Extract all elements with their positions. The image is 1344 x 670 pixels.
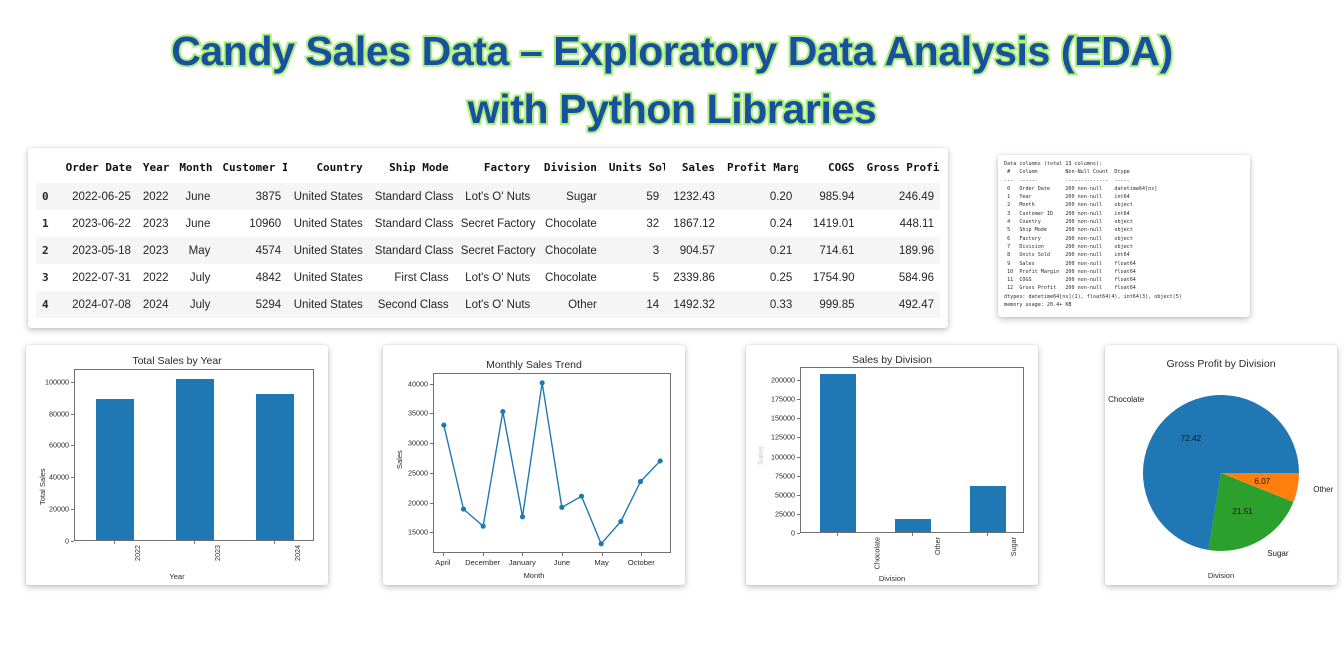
table-column-header: Gross Profit: [861, 154, 941, 183]
x-axis-tick-mark: [274, 541, 275, 544]
table-row-index: 2: [36, 237, 60, 264]
x-axis-tick-label: 2024: [293, 545, 302, 561]
chart-card-sales-by-division: Sales by Division Sales Division 0250005…: [746, 345, 1038, 585]
y-axis-tick-mark: [797, 437, 800, 438]
y-axis-tick-label: 20000: [26, 505, 69, 514]
table-column-header: Sales: [665, 154, 721, 183]
y-axis-tick-mark: [71, 382, 74, 383]
chart-title: Total Sales by Year: [26, 355, 328, 367]
x-axis-tick-label: Other: [933, 537, 942, 555]
x-axis-tick-label: 2023: [213, 545, 222, 561]
y-axis-tick-label: 40000: [383, 379, 428, 388]
table-cell: 584.96: [861, 264, 941, 291]
bar: [820, 374, 856, 532]
y-axis-tick-label: 60000: [26, 441, 69, 450]
y-axis-tick-mark: [430, 473, 433, 474]
chart-x-axis-label: Year: [26, 572, 328, 581]
bar: [96, 399, 134, 540]
page-title-line-2: with Python Libraries: [0, 80, 1344, 138]
table-index-header: [36, 154, 60, 183]
x-axis-tick-mark: [114, 541, 115, 544]
table-cell: 14: [603, 291, 665, 318]
y-axis-tick-label: 25000: [746, 509, 795, 518]
pie-slice-value: 21.51: [1232, 507, 1253, 516]
x-axis-tick-label: 2022: [133, 545, 142, 561]
x-axis-tick-label: April: [435, 558, 450, 567]
table-row: 42024-07-082024July5294United StatesSeco…: [36, 291, 940, 318]
y-axis-tick-label: 30000: [383, 439, 428, 448]
y-axis-tick-label: 150000: [746, 414, 795, 423]
table-cell: 1754.90: [798, 264, 860, 291]
x-axis-tick-mark: [522, 553, 523, 556]
dataframe-preview-card: Order DateYearMonthCustomer IDCountryShi…: [28, 148, 948, 328]
table-cell: 1492.32: [665, 291, 721, 318]
bar: [970, 486, 1006, 532]
line-data-point: [599, 541, 604, 546]
y-axis-tick-label: 15000: [383, 528, 428, 537]
y-axis-tick-mark: [430, 503, 433, 504]
chart-plot-area: [74, 369, 314, 541]
table-cell: 5294: [216, 291, 287, 318]
table-cell: 0.33: [721, 291, 798, 318]
table-column-header: Profit Margin: [721, 154, 798, 183]
table-column-header: COGS: [798, 154, 860, 183]
table-cell: July: [173, 264, 216, 291]
table-cell: 246.49: [861, 183, 941, 210]
y-axis-tick-mark: [797, 476, 800, 477]
table-row-index: 3: [36, 264, 60, 291]
y-axis-tick-label: 40000: [26, 473, 69, 482]
table-cell: Secret Factory: [455, 237, 537, 264]
bar: [176, 379, 214, 540]
y-axis-tick-mark: [71, 445, 74, 446]
table-row-index: 1: [36, 210, 60, 237]
table-cell: 2022: [137, 183, 174, 210]
line-data-point: [540, 380, 545, 385]
y-axis-tick-label: 50000: [746, 490, 795, 499]
table-cell: Chocolate: [536, 264, 603, 291]
x-axis-tick-label: Sugar: [1009, 537, 1018, 556]
x-axis-tick-mark: [837, 533, 838, 536]
table-cell: 189.96: [861, 237, 941, 264]
x-axis-tick-label: June: [554, 558, 570, 567]
dataframe-info-text: Data columns (total 13 columns): # Colum…: [1004, 160, 1246, 309]
pie-chart-svg: [1105, 345, 1337, 585]
chart-plot-area: [800, 367, 1024, 533]
table-cell: 1867.12: [665, 210, 721, 237]
table-column-header: Customer ID: [216, 154, 287, 183]
table-cell: Secret Factory: [455, 210, 537, 237]
table-cell: 999.85: [798, 291, 860, 318]
y-axis-tick-label: 80000: [26, 409, 69, 418]
y-axis-tick-label: 100000: [26, 377, 69, 386]
table-cell: First Class: [369, 264, 455, 291]
table-cell: United States: [287, 210, 369, 237]
y-axis-tick-label: 0: [746, 529, 795, 538]
table-cell: United States: [287, 183, 369, 210]
table-cell: Standard Class: [369, 237, 455, 264]
line-data-point: [559, 505, 564, 510]
y-axis-tick-mark: [430, 384, 433, 385]
y-axis-tick-label: 75000: [746, 471, 795, 480]
table-column-header: Country: [287, 154, 369, 183]
table-cell: United States: [287, 264, 369, 291]
x-axis-tick-label: January: [509, 558, 536, 567]
table-cell: 2339.86: [665, 264, 721, 291]
table-cell: 32: [603, 210, 665, 237]
table-cell: 0.20: [721, 183, 798, 210]
table-column-header: Order Date: [60, 154, 137, 183]
table-cell: May: [173, 237, 216, 264]
table-cell: Standard Class: [369, 183, 455, 210]
table-cell: June: [173, 210, 216, 237]
y-axis-tick-mark: [797, 418, 800, 419]
y-axis-tick-label: 100000: [746, 452, 795, 461]
pie-slice-label: Other: [1313, 485, 1333, 494]
table-cell: Sugar: [536, 183, 603, 210]
table-column-header: Factory: [455, 154, 537, 183]
line-data-point: [500, 409, 505, 414]
table-cell: Other: [536, 291, 603, 318]
y-axis-tick-mark: [797, 399, 800, 400]
table-cell: 3: [603, 237, 665, 264]
table-cell: July: [173, 291, 216, 318]
table-cell: 2024-07-08: [60, 291, 137, 318]
line-data-point: [520, 514, 525, 519]
table-cell: 448.11: [861, 210, 941, 237]
x-axis-tick-mark: [194, 541, 195, 544]
x-axis-tick-label: Chocolate: [873, 537, 882, 569]
table-cell: June: [173, 183, 216, 210]
table-cell: Lot's O' Nuts: [455, 264, 537, 291]
table-column-header: Ship Mode: [369, 154, 455, 183]
table-cell: United States: [287, 237, 369, 264]
line-data-point: [618, 519, 623, 524]
table-cell: 492.47: [861, 291, 941, 318]
y-axis-tick-mark: [797, 514, 800, 515]
table-column-header: Month: [173, 154, 216, 183]
x-axis-tick-label: October: [628, 558, 655, 567]
table-cell: Second Class: [369, 291, 455, 318]
table-row: 22023-05-182023May4574United StatesStand…: [36, 237, 940, 264]
line-series-path: [444, 383, 660, 544]
table-cell: 10960: [216, 210, 287, 237]
line-data-point: [481, 524, 486, 529]
dataframe-body: 02022-06-252022June3875United StatesStan…: [36, 183, 940, 318]
line-data-point: [579, 494, 584, 499]
table-row: 02022-06-252022June3875United StatesStan…: [36, 183, 940, 210]
y-axis-tick-label: 35000: [383, 409, 428, 418]
y-axis-tick-mark: [71, 541, 74, 542]
line-data-point: [638, 479, 643, 484]
table-cell: 5: [603, 264, 665, 291]
pie-slice-label: Chocolate: [1108, 395, 1144, 404]
pie-slice-value: 72.42: [1181, 434, 1202, 443]
pie-slice-value: 6.07: [1254, 477, 1270, 486]
table-cell: Standard Class: [369, 210, 455, 237]
table-cell: 714.61: [798, 237, 860, 264]
table-cell: 2023-06-22: [60, 210, 137, 237]
bar: [256, 394, 294, 540]
table-column-header: Units Sold: [603, 154, 665, 183]
table-cell: Chocolate: [536, 210, 603, 237]
table-cell: 2023: [137, 237, 174, 264]
chart-x-axis-label: Division: [746, 574, 1038, 583]
table-cell: Lot's O' Nuts: [455, 291, 537, 318]
y-axis-tick-label: 0: [26, 537, 69, 546]
table-cell: 2022-07-31: [60, 264, 137, 291]
chart-y-axis-label: Sales: [395, 450, 404, 469]
y-axis-tick-mark: [71, 414, 74, 415]
table-cell: 4574: [216, 237, 287, 264]
line-data-point: [441, 423, 446, 428]
page-title: Candy Sales Data – Exploratory Data Anal…: [0, 22, 1344, 138]
line-data-point: [658, 458, 663, 463]
y-axis-tick-mark: [71, 477, 74, 478]
table-cell: United States: [287, 291, 369, 318]
table-cell: 3875: [216, 183, 287, 210]
table-cell: 0.24: [721, 210, 798, 237]
table-row-index: 0: [36, 183, 60, 210]
x-axis-tick-mark: [602, 553, 603, 556]
y-axis-tick-label: 200000: [746, 376, 795, 385]
chart-title: Sales by Division: [746, 354, 1038, 366]
table-cell: Lot's O' Nuts: [455, 183, 537, 210]
chart-x-axis-label: Month: [383, 571, 685, 580]
table-row: 32022-07-312022July4842United StatesFirs…: [36, 264, 940, 291]
x-axis-tick-mark: [912, 533, 913, 536]
bar: [895, 519, 931, 532]
table-cell: 0.25: [721, 264, 798, 291]
table-cell: 2024: [137, 291, 174, 318]
chart-plot-area: [433, 373, 671, 553]
y-axis-tick-mark: [430, 413, 433, 414]
pie-chart-area: 72.42Chocolate21.51Sugar6.07Other: [1105, 345, 1337, 585]
table-cell: 2023: [137, 210, 174, 237]
table-row: 12023-06-222023June10960United StatesSta…: [36, 210, 940, 237]
slide-root: Candy Sales Data – Exploratory Data Anal…: [0, 0, 1344, 670]
chart-card-monthly-sales-trend: Monthly Sales Trend Sales Month 15000200…: [383, 345, 685, 585]
y-axis-tick-mark: [71, 509, 74, 510]
x-axis-tick-mark: [641, 553, 642, 556]
y-axis-tick-mark: [430, 532, 433, 533]
line-data-point: [461, 507, 466, 512]
table-cell: 1232.43: [665, 183, 721, 210]
page-title-line-1: Candy Sales Data – Exploratory Data Anal…: [0, 22, 1344, 80]
table-cell: 985.94: [798, 183, 860, 210]
table-cell: 0.21: [721, 237, 798, 264]
y-axis-tick-mark: [797, 380, 800, 381]
x-axis-tick-label: December: [465, 558, 500, 567]
table-cell: 2023-05-18: [60, 237, 137, 264]
chart-card-total-sales-by-year: Total Sales by Year Total Sales Year 020…: [26, 345, 328, 585]
table-cell: 2022-06-25: [60, 183, 137, 210]
table-cell: Chocolate: [536, 237, 603, 264]
pie-slice-label: Sugar: [1267, 549, 1288, 558]
y-axis-tick-label: 20000: [383, 498, 428, 507]
line-chart-svg: [434, 374, 670, 552]
table-row-index: 4: [36, 291, 60, 318]
y-axis-tick-mark: [797, 533, 800, 534]
dataframe-info-card: Data columns (total 13 columns): # Colum…: [998, 155, 1250, 317]
x-axis-tick-mark: [483, 553, 484, 556]
chart-card-gross-profit-by-division: Gross Profit by Division Division 72.42C…: [1105, 345, 1337, 585]
y-axis-tick-mark: [797, 457, 800, 458]
table-cell: 2022: [137, 264, 174, 291]
dataframe-header: Order DateYearMonthCustomer IDCountryShi…: [36, 154, 940, 183]
x-axis-tick-mark: [443, 553, 444, 556]
table-cell: 59: [603, 183, 665, 210]
table-cell: 4842: [216, 264, 287, 291]
y-axis-tick-mark: [430, 443, 433, 444]
y-axis-tick-label: 175000: [746, 395, 795, 404]
y-axis-tick-label: 25000: [383, 468, 428, 477]
table-column-header: Division: [536, 154, 603, 183]
x-axis-tick-mark: [987, 533, 988, 536]
y-axis-tick-label: 125000: [746, 433, 795, 442]
table-cell: 1419.01: [798, 210, 860, 237]
table-cell: 904.57: [665, 237, 721, 264]
x-axis-tick-mark: [562, 553, 563, 556]
y-axis-tick-mark: [797, 495, 800, 496]
x-axis-tick-label: May: [594, 558, 608, 567]
dataframe-table: Order DateYearMonthCustomer IDCountryShi…: [36, 154, 940, 318]
table-header-row: Order DateYearMonthCustomer IDCountryShi…: [36, 154, 940, 183]
table-column-header: Year: [137, 154, 174, 183]
chart-title: Monthly Sales Trend: [383, 359, 685, 371]
